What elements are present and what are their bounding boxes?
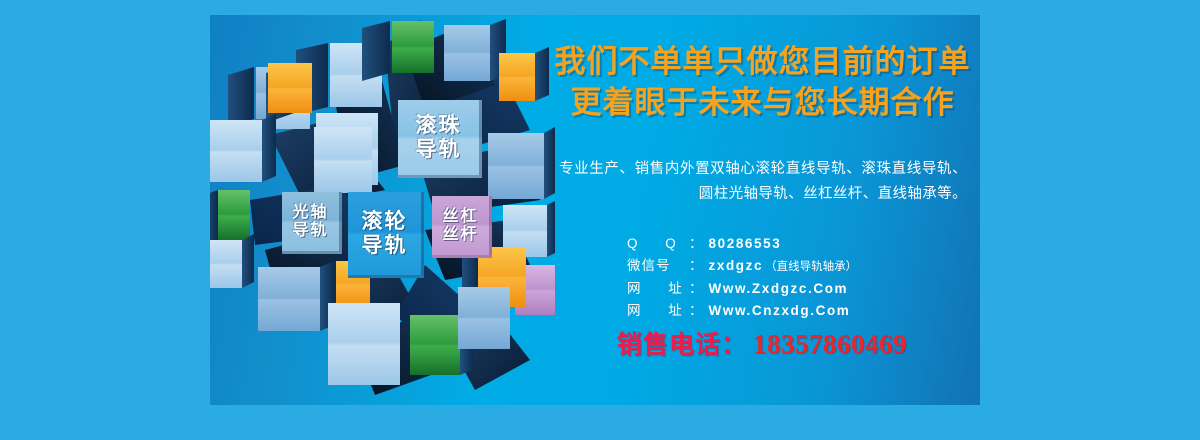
- contact-value-website-2[interactable]: Www.Cnzxdg.Com: [709, 300, 851, 322]
- product-label-optical-shaft-guide: 光轴 导轨: [282, 192, 342, 254]
- contact-colon: ：: [689, 233, 709, 255]
- contact-label: 微信号: [627, 255, 689, 277]
- label-line-1: 滚珠: [416, 114, 462, 137]
- headline-line-1: 我们不单单只做您目前的订单: [545, 41, 980, 82]
- contact-colon: ：: [689, 255, 709, 277]
- banner-root: 滚珠 导轨 光轴 导轨 滚轮 导轨 丝杠 丝杆 我们不单单只做您目前的订单 更着…: [0, 0, 1200, 440]
- label-line-2: 导轨: [416, 138, 462, 161]
- banner-panel: 滚珠 导轨 光轴 导轨 滚轮 导轨 丝杠 丝杆 我们不单单只做您目前的订单 更着…: [210, 15, 980, 405]
- contact-row-wechat: 微信号 ： zxdgzc （直线导轨轴承）: [627, 255, 977, 277]
- contact-block: Q Q ： 80286553 微信号 ： zxdgzc （直线导轨轴承） 网 址…: [627, 233, 977, 323]
- contact-value-qq: 80286553: [709, 233, 782, 255]
- sales-phone-line: 销售电话：18357860469: [547, 325, 977, 361]
- contact-colon: ：: [689, 278, 709, 300]
- product-label-ball-guide: 滚珠 导轨: [398, 100, 482, 178]
- contact-label: 网 址: [627, 278, 689, 300]
- headline: 我们不单单只做您目前的订单 更着眼于未来与您长期合作: [545, 41, 980, 123]
- contact-row-qq: Q Q ： 80286553: [627, 233, 977, 255]
- sales-phone-number: 18357860469: [747, 329, 907, 359]
- contact-value-website-1[interactable]: Www.Zxdgzc.Com: [709, 278, 849, 300]
- contact-label: Q Q: [627, 233, 689, 255]
- label-line-2: 丝杆: [442, 226, 478, 244]
- contact-colon: ：: [689, 300, 709, 322]
- product-label-roller-guide: 滚轮 导轨: [348, 192, 424, 278]
- sales-phone-label: 销售电话：: [617, 331, 747, 359]
- contact-note-wechat: （直线导轨轴承）: [763, 258, 857, 277]
- label-line-1: 丝杠: [442, 208, 478, 226]
- label-line-2: 导轨: [362, 234, 408, 257]
- contact-row-website-1: 网 址 ： Www.Zxdgzc.Com: [627, 278, 977, 300]
- label-line-2: 导轨: [292, 222, 328, 240]
- product-label-lead-screw: 丝杠 丝杆: [432, 196, 492, 258]
- contact-value-wechat: zxdgzc: [709, 255, 764, 277]
- headline-line-2: 更着眼于未来与您长期合作: [545, 82, 980, 123]
- contact-row-website-2: 网 址 ： Www.Cnzxdg.Com: [627, 300, 977, 322]
- contact-label: 网 址: [627, 300, 689, 322]
- text-column: 我们不单单只做您目前的订单 更着眼于未来与您长期合作 专业生产、销售内外置双轴心…: [545, 15, 980, 405]
- label-line-1: 滚轮: [362, 210, 408, 233]
- company-description: 专业生产、销售内外置双轴心滚轮直线导轨、滚珠直线导轨、圆柱光轴导轨、丝杠丝杆、直…: [559, 157, 967, 207]
- label-line-1: 光轴: [292, 204, 328, 222]
